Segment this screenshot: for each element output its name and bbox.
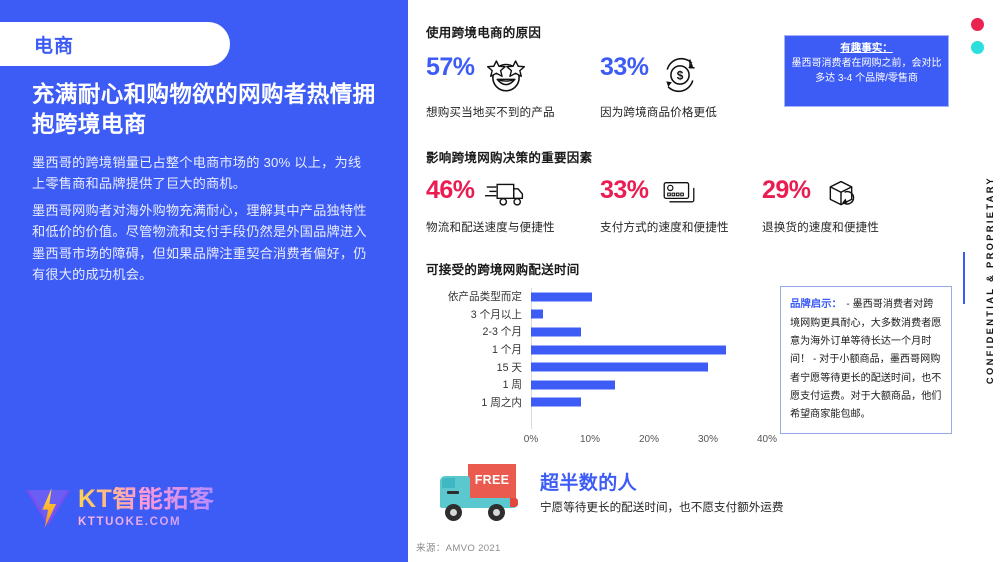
insight-title: 品牌启示： [790, 299, 842, 310]
panel-paragraph-1: 墨西哥的跨境销量已占整个电商市场的 30% 以上，为线上零售商和品牌提供了巨大的… [32, 152, 374, 195]
fun-fact-box: 有趣事实： 墨西哥消费者在网购之前，会对比多达 3-4 个品牌/零售商 [784, 35, 949, 107]
chart-bar [531, 363, 708, 372]
chart-bar [531, 292, 592, 301]
chart-row: 依产品类型而定 [422, 288, 767, 306]
reasons-heading: 使用跨境电商的原因 [426, 22, 541, 41]
stat-label: 想购买当地买不到的产品 [426, 104, 555, 120]
stat-label: 因为跨境商品价格更低 [600, 104, 717, 120]
highlight-title: 超半数的人 [540, 468, 790, 495]
money-refresh-icon: $ [659, 55, 701, 95]
stat-card-factor-1: 46% 物流和配送速度与便捷性 [426, 178, 555, 235]
stat-value: 33% [600, 55, 649, 80]
chart-bar-track [531, 394, 767, 412]
logo-bolt-icon [26, 488, 70, 530]
chart-x-tick: 30% [698, 434, 718, 445]
stat-card-reason-1: 57% 想购买当地买不到的产品 [426, 55, 555, 120]
stat-value: 57% [426, 55, 475, 80]
decorative-dot-cyan [971, 41, 984, 54]
page-title: 充满耐心和购物欲的网购者热情拥抱跨境电商 [32, 80, 380, 140]
free-shipping-highlight: FREE 超半数的人 宁愿等待更长的配送时间，也不愿支付额外运费 [438, 462, 790, 524]
chart-category-label: 3 个月以上 [422, 307, 531, 322]
chart-x-tick: 10% [580, 434, 600, 445]
stat-card-reason-2: 33% $ 因为跨境商品价格更低 [600, 55, 717, 120]
logo-name: KT智能拓客 [78, 487, 214, 512]
chart-bar [531, 345, 726, 354]
delivery-heading: 可接受的跨境网购配送时间 [426, 259, 580, 278]
right-content-area: 使用跨境电商的原因 57% 想购买当地买不到的产品 33% [408, 0, 1000, 562]
insight-body: - 墨西哥消费者对跨境网购更具耐心，大多数消费者愿意为海外订单等待长达一个月时间… [790, 299, 941, 420]
stat-value: 29% [762, 178, 811, 203]
chart-bar-track [531, 323, 767, 341]
chart-bar-track [531, 358, 767, 376]
chart-bar-track [531, 341, 767, 359]
left-blue-panel: 电商 充满耐心和购物欲的网购者热情拥抱跨境电商 墨西哥的跨境销量已占整个电商市场… [0, 0, 408, 562]
chart-category-label: 依产品类型而定 [422, 289, 531, 304]
chart-row: 2-3 个月 [422, 323, 767, 341]
stat-card-factor-2: 33% 支付方式的速度和便捷性 [600, 178, 729, 235]
confidential-label: CONFIDENTIAL & PROPRIETARY [984, 176, 995, 384]
stat-card-factor-3: 29% 退换货的速度和便捷性 [762, 178, 879, 235]
credit-cards-icon [659, 178, 699, 210]
delivery-truck-icon [485, 178, 525, 210]
chart-row: 1 个月 [422, 341, 767, 359]
fun-fact-body: 墨西哥消费者在网购之前，会对比多达 3-4 个品牌/零售商 [785, 56, 948, 86]
category-label: 电商 [34, 31, 74, 58]
svg-text:$: $ [676, 69, 683, 83]
chart-x-tick: 40% [757, 434, 777, 445]
free-badge-text: FREE [468, 473, 516, 487]
chart-bar [531, 398, 581, 407]
decorative-dot-red [971, 18, 984, 31]
stat-value: 46% [426, 178, 475, 203]
highlight-subtitle: 宁愿等待更长的配送时间，也不愿支付额外运费 [540, 500, 790, 517]
factors-heading: 影响跨境网购决策的重要因素 [426, 147, 592, 166]
return-box-icon [821, 178, 861, 210]
chart-row: 3 个月以上 [422, 306, 767, 324]
chart-row: 15 天 [422, 358, 767, 376]
rail-accent-line [963, 252, 965, 304]
chart-row: 1 周 [422, 376, 767, 394]
chart-row: 1 周之内 [422, 394, 767, 412]
chart-x-tick: 0% [524, 434, 538, 445]
stat-value: 33% [600, 178, 649, 203]
panel-paragraph-2: 墨西哥网购者对海外购物充满耐心，理解其中产品独特性和低价的价值。尽管物流和支付手… [32, 200, 374, 286]
logo-domain: KTTUOKE.COM [78, 516, 214, 528]
slide-canvas: 电商 充满耐心和购物欲的网购者热情拥抱跨境电商 墨西哥的跨境销量已占整个电商市场… [0, 0, 1000, 562]
chart-category-label: 1 个月 [422, 342, 531, 357]
fun-fact-title: 有趣事实： [785, 41, 948, 56]
delivery-time-bar-chart: 依产品类型而定3 个月以上2-3 个月1 个月15 天1 周1 周之内 0%10… [422, 288, 767, 448]
brand-logo: KT智能拓客 KTTUOKE.COM [26, 487, 214, 530]
chart-category-label: 2-3 个月 [422, 324, 531, 339]
source-note: 来源：AMVO 2021 [416, 540, 501, 554]
stat-label: 退换货的速度和便捷性 [762, 219, 879, 235]
stat-label: 物流和配送速度与便捷性 [426, 219, 555, 235]
chart-bar-track [531, 306, 767, 324]
brand-insight-box: 品牌启示： - 墨西哥消费者对跨境网购更具耐心，大多数消费者愿意为海外订单等待长… [780, 286, 952, 434]
chart-bar-track [531, 288, 767, 306]
category-pill: 电商 [0, 22, 230, 66]
star-eyes-face-icon [485, 55, 527, 95]
chart-category-label: 1 周之内 [422, 395, 531, 410]
chart-category-label: 15 天 [422, 360, 531, 375]
stat-label: 支付方式的速度和便捷性 [600, 219, 729, 235]
chart-x-axis: 0%10%20%30%40% [531, 434, 767, 448]
chart-bar-track [531, 376, 767, 394]
free-shipping-truck-icon: FREE [438, 462, 518, 524]
chart-x-tick: 20% [639, 434, 659, 445]
chart-bar [531, 380, 615, 389]
chart-bar [531, 310, 543, 319]
chart-category-label: 1 周 [422, 377, 531, 392]
chart-bar [531, 327, 581, 336]
